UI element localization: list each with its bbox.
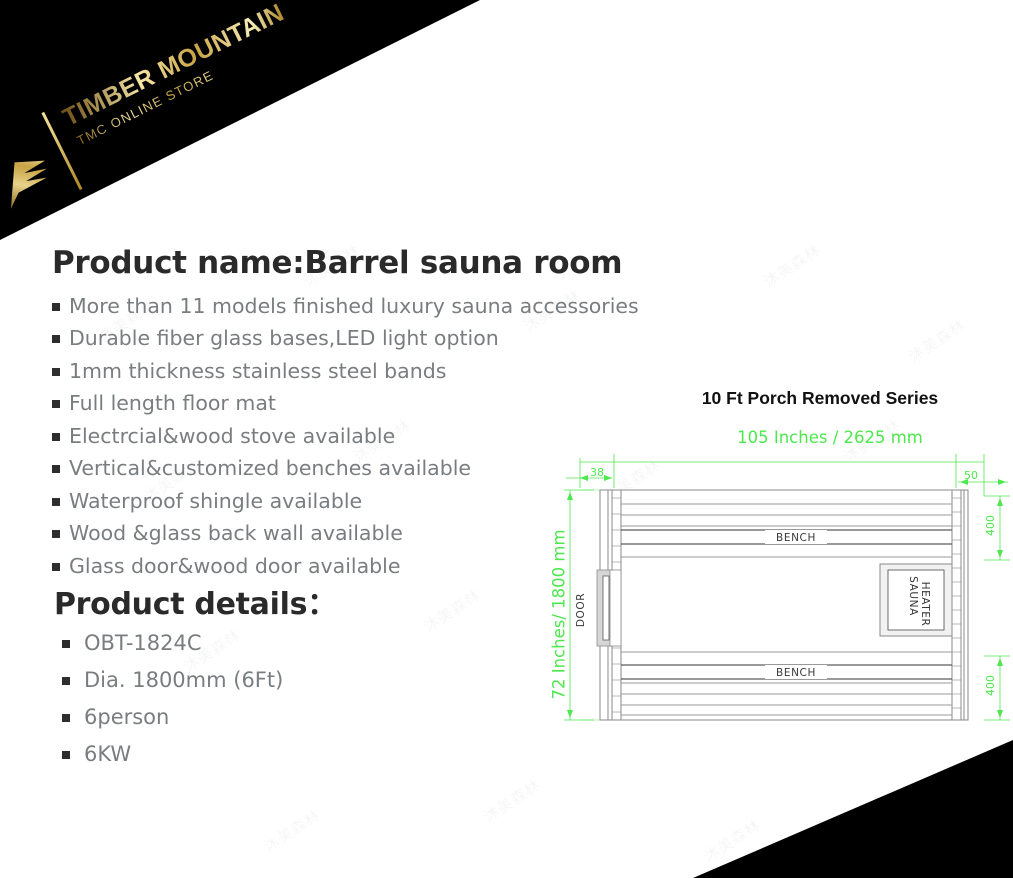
feature-item: Durable fiber glass bases,LED light opti…	[52, 322, 692, 355]
dim-right-50: 50	[964, 469, 978, 482]
sauna-floor-plan-svg: 38 50 400 400	[560, 452, 1010, 762]
feature-item-label: 1mm thickness stainless steel bands	[69, 361, 446, 382]
square-bullet-icon	[52, 530, 60, 538]
watermark-text: 沐美森林	[259, 804, 324, 856]
feature-item-label: Wood &glass back wall available	[69, 523, 403, 544]
technical-drawing-panel: 10 Ft Porch Removed Series 105 Inches / …	[520, 380, 1013, 780]
product-sheet-page: 沐美森林沐美森林沐美森林沐美森林沐美森林沐美森林沐美森林沐美森林沐美森林沐美森林…	[0, 0, 1013, 878]
feature-item-label: Waterproof shingle available	[69, 491, 362, 512]
detail-item-label: 6person	[84, 707, 169, 728]
square-bullet-icon	[52, 465, 60, 473]
heater-label-line2: HEATER	[919, 582, 931, 627]
mountain-wing-icon	[0, 147, 60, 211]
brand-logo: TIMBER MOUNTAIN TMC ONLINE STORE	[0, 0, 300, 233]
feature-item-label: Vertical&customized benches available	[69, 458, 471, 479]
feature-item-label: More than 11 models finished luxury saun…	[69, 296, 639, 317]
detail-item-label: 6KW	[84, 744, 131, 765]
dim-left-38: 38	[590, 466, 604, 479]
feature-item-label: Full length floor mat	[69, 393, 276, 414]
drawing-title: 10 Ft Porch Removed Series	[660, 388, 980, 409]
watermark-text: 沐美森林	[759, 239, 824, 291]
square-bullet-icon	[62, 751, 70, 759]
bench-top-label: BENCH	[776, 532, 816, 544]
door-assembly	[597, 570, 621, 646]
square-bullet-icon	[52, 400, 60, 408]
detail-item-label: Dia. 1800mm (6Ft)	[84, 670, 283, 691]
square-bullet-icon	[52, 335, 60, 343]
page-title: Product name:Barrel sauna room	[52, 246, 692, 282]
detail-item-label: OBT-1824C	[84, 633, 202, 654]
brand-name: TIMBER MOUNTAIN	[58, 0, 289, 133]
square-bullet-icon	[52, 368, 60, 376]
square-bullet-icon	[52, 563, 60, 571]
watermark-text: 沐美森林	[904, 314, 969, 366]
bench-bottom-label: BENCH	[776, 667, 816, 679]
square-bullet-icon	[52, 433, 60, 441]
feature-item: More than 11 models finished luxury saun…	[52, 290, 692, 323]
square-bullet-icon	[62, 714, 70, 722]
door-label: DOOR	[575, 593, 587, 627]
square-bullet-icon	[52, 498, 60, 506]
dim-top-right-400: 400	[984, 515, 997, 536]
overall-width-label: 105 Inches / 2625 mm	[680, 428, 980, 447]
heater-label-line1: SAUNA	[907, 576, 919, 616]
dim-bottom-right-400: 400	[984, 675, 997, 696]
feature-item-label: Durable fiber glass bases,LED light opti…	[69, 328, 499, 349]
feature-item-label: Electrcial&wood stove available	[69, 426, 395, 447]
square-bullet-icon	[62, 677, 70, 685]
square-bullet-icon	[62, 640, 70, 648]
watermark-text: 沐美森林	[479, 774, 544, 826]
square-bullet-icon	[52, 303, 60, 311]
feature-item-label: Glass door&wood door available	[69, 556, 400, 577]
